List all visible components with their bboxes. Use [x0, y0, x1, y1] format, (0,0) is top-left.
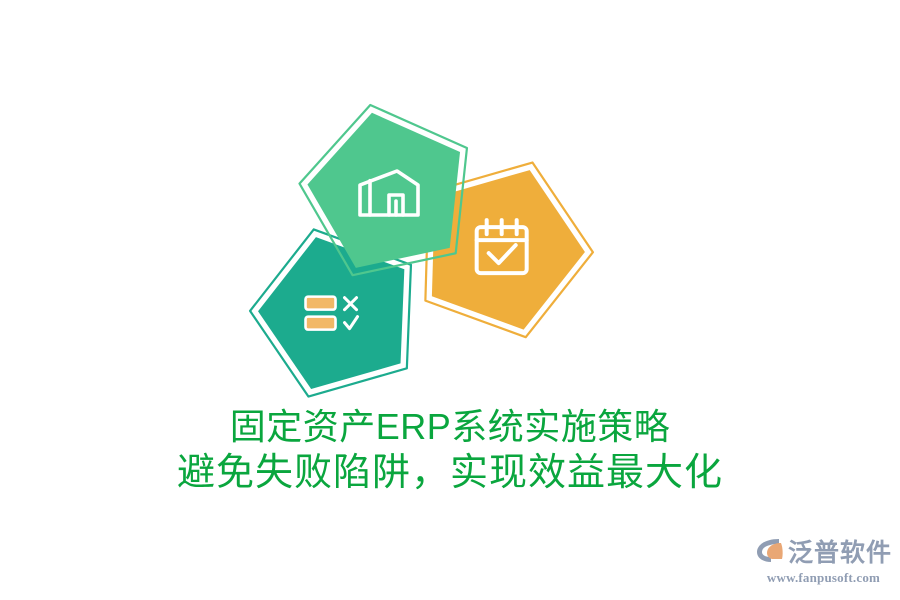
logo-mark-accent: [767, 543, 783, 559]
fanpu-logo-mark: [755, 536, 785, 569]
watermark-logo: 泛普软件 www.fanpusoft.com: [755, 536, 892, 586]
checklist-bar-2: [306, 317, 336, 330]
logo-row: 泛普软件: [755, 536, 892, 569]
checklist-bar-1: [306, 297, 336, 310]
hero-illustration: [0, 0, 900, 400]
fanpu-brand-name: 泛普软件: [788, 539, 892, 567]
pentagon-cluster-svg: [0, 0, 900, 400]
headline-block: 固定资产ERP系统实施策略 避免失败陷阱，实现效益最大化: [0, 404, 900, 496]
headline-line-2: 避免失败陷阱，实现效益最大化: [0, 450, 900, 496]
headline-line-1: 固定资产ERP系统实施策略: [0, 404, 900, 450]
logo-mark-svg: [755, 536, 785, 564]
fanpu-website-url: www.fanpusoft.com: [767, 570, 880, 586]
